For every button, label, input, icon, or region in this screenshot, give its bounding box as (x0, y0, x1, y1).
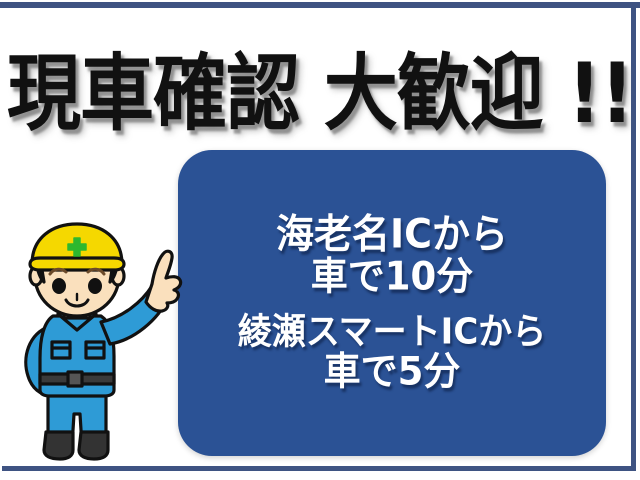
access-line-ayase-from: 綾瀬スマートICから (238, 312, 547, 352)
access-line-ayase-duration: 車で5分 (324, 350, 461, 394)
headline-text: 現車確認 大歓迎 !! (20, 38, 620, 150)
mascot-helmet-brim (30, 258, 124, 270)
mascot-pocket-right (86, 342, 104, 358)
banner-image: 現車確認 大歓迎 !! 海老名ICから 車で10分 綾瀬スマートICから 車で5… (0, 0, 640, 480)
mascot-belt-buckle (68, 372, 82, 386)
worker-mascot-illustration (6, 218, 186, 470)
mascot-left-boot (44, 432, 73, 459)
access-block-ayase: 綾瀬スマートICから 車で5分 (238, 313, 547, 393)
access-line-ebina-duration: 車で10分 (311, 255, 474, 299)
mascot-left-eye (52, 278, 66, 294)
mascot-right-eye (88, 278, 102, 294)
access-info-panel: 海老名ICから 車で10分 綾瀬スマートICから 車で5分 (178, 150, 606, 456)
mascot-pointing-hand (146, 251, 181, 311)
access-block-ebina: 海老名ICから 車で10分 (276, 213, 508, 297)
access-line-ebina-from: 海老名ICから (276, 212, 508, 257)
mascot-right-boot (79, 432, 108, 459)
frame-top-line (0, 2, 640, 8)
mascot-pocket-left (52, 342, 70, 358)
